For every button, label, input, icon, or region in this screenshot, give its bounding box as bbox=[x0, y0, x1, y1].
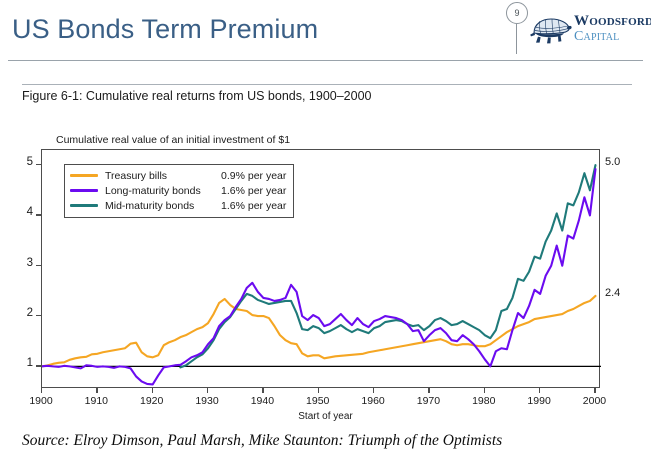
x-tick-label: 2000 bbox=[577, 395, 611, 407]
y-tick-mark bbox=[36, 315, 41, 316]
y-tick-label: 3 bbox=[17, 257, 33, 269]
x-tick-label: 1900 bbox=[24, 395, 58, 407]
x-tick-label: 1940 bbox=[245, 395, 279, 407]
x-tick-label: 1920 bbox=[135, 395, 169, 407]
legend-series-label: Long-maturity bonds bbox=[105, 185, 221, 197]
x-tick-mark bbox=[373, 388, 374, 393]
y-tick-mark bbox=[36, 365, 41, 366]
x-tick-mark bbox=[96, 388, 97, 393]
chart-subtitle: Cumulative real value of an initial inve… bbox=[56, 134, 290, 146]
legend-series-value: 1.6% per year bbox=[221, 185, 286, 197]
tortoise-globe-logo-icon bbox=[528, 16, 572, 46]
x-tick-mark bbox=[152, 388, 153, 393]
x-axis-title: Start of year bbox=[0, 411, 651, 422]
x-tick-mark bbox=[41, 388, 42, 393]
chart-container: Cumulative real value of an initial inve… bbox=[0, 118, 651, 428]
legend-series-value: 0.9% per year bbox=[221, 170, 286, 182]
treasury-bills-end-label: 2.4 bbox=[605, 287, 620, 299]
x-tick-mark bbox=[318, 388, 319, 393]
y-tick-mark bbox=[36, 265, 41, 266]
y-tick-mark bbox=[36, 214, 41, 215]
y-tick-label: 5 bbox=[17, 156, 33, 168]
logo-line-2: Capital bbox=[574, 29, 651, 45]
y-tick-label: 4 bbox=[17, 206, 33, 218]
page-badge-stem bbox=[516, 24, 517, 54]
x-tick-label: 1980 bbox=[467, 395, 501, 407]
x-tick-label: 1970 bbox=[411, 395, 445, 407]
y-tick-label: 1 bbox=[17, 357, 33, 369]
x-tick-label: 1950 bbox=[301, 395, 335, 407]
y-tick-label: 2 bbox=[17, 307, 33, 319]
legend-color-swatch bbox=[70, 174, 98, 177]
chart-legend: Treasury bills0.9% per yearLong-maturity… bbox=[64, 164, 294, 218]
legend-series-value: 1.6% per year bbox=[221, 200, 286, 212]
mid-maturity-end-label: 5.0 bbox=[605, 156, 620, 168]
page-number-text: 9 bbox=[507, 3, 527, 23]
header-divider bbox=[8, 60, 643, 61]
caption-rule bbox=[22, 84, 632, 85]
slide-header: US Bonds Term Premium 9 bbox=[0, 0, 651, 62]
y-tick-mark bbox=[36, 164, 41, 165]
x-tick-label: 1930 bbox=[190, 395, 224, 407]
page-number-badge: 9 bbox=[506, 2, 528, 24]
logo-line-1: Woodsford bbox=[574, 14, 651, 29]
legend-series-label: Treasury bills bbox=[105, 170, 221, 182]
x-tick-mark bbox=[594, 388, 595, 393]
x-tick-mark bbox=[207, 388, 208, 393]
x-tick-mark bbox=[262, 388, 263, 393]
legend-row: Treasury bills0.9% per year bbox=[70, 168, 286, 183]
x-tick-mark bbox=[428, 388, 429, 393]
legend-series-label: Mid-maturity bonds bbox=[105, 200, 221, 212]
x-tick-label: 1990 bbox=[522, 395, 556, 407]
legend-color-swatch bbox=[70, 204, 98, 207]
x-tick-mark bbox=[539, 388, 540, 393]
page-title: US Bonds Term Premium bbox=[12, 14, 318, 45]
legend-row: Long-maturity bonds1.6% per year bbox=[70, 183, 286, 198]
x-tick-label: 1910 bbox=[79, 395, 113, 407]
figure-caption: Figure 6-1: Cumulative real returns from… bbox=[22, 89, 372, 103]
x-tick-mark bbox=[484, 388, 485, 393]
logo-wordmark: Woodsford Capital bbox=[574, 14, 651, 45]
source-note: Source: Elroy Dimson, Paul Marsh, Mike S… bbox=[22, 432, 502, 450]
x-tick-label: 1960 bbox=[356, 395, 390, 407]
legend-color-swatch bbox=[70, 189, 98, 192]
woodsford-capital-logo: Woodsford Capital bbox=[528, 12, 646, 52]
legend-row: Mid-maturity bonds1.6% per year bbox=[70, 198, 286, 213]
